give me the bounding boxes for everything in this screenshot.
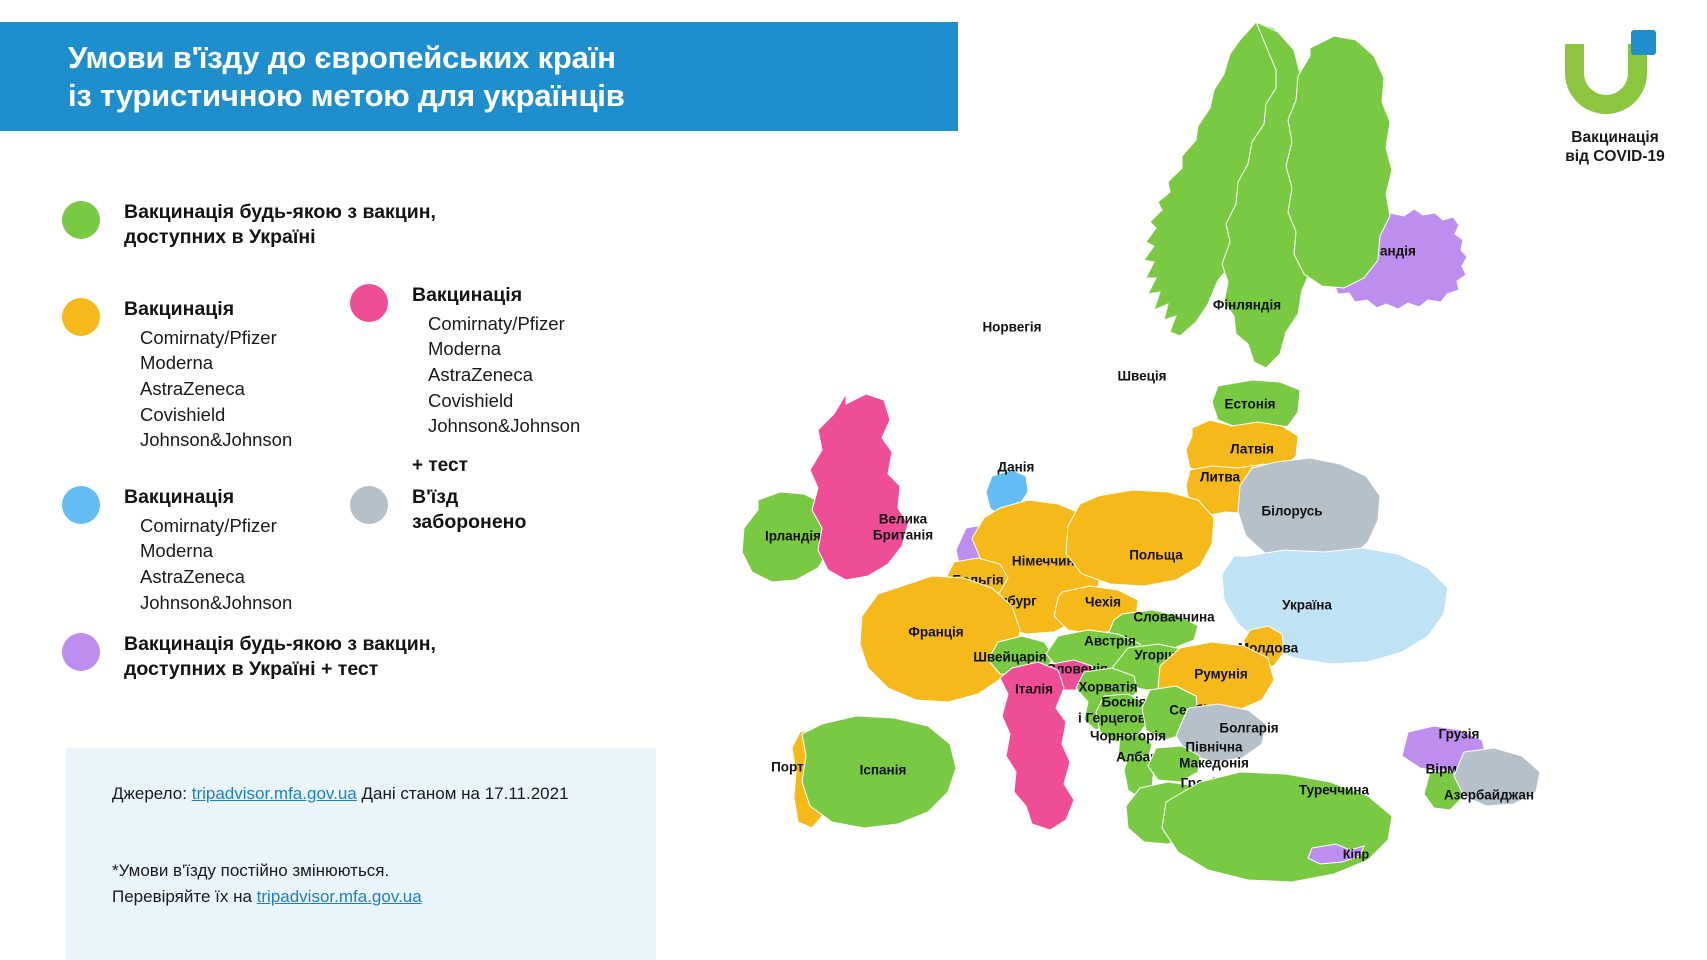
legend-item-pink: Вакцинація Comirnaty/Pfizer Moderna Astr…	[350, 283, 580, 477]
map-label-estonia: Естонія	[1225, 397, 1276, 412]
note-line-1: *Умови в'їзду постійно змінюються.	[112, 858, 422, 884]
source-line: Джерело: tripadvisor.mfa.gov.ua Дані ста…	[112, 784, 569, 804]
legend-swatch-grey	[350, 486, 388, 524]
vaccine-item: Moderna	[140, 350, 292, 376]
map-label-croatia: Хорватія	[1078, 680, 1137, 695]
legend-title-pink: Вакцинація	[412, 283, 580, 308]
legend-plus-test-pink: + тест	[412, 455, 580, 477]
map-label-czechia: Чехія	[1085, 595, 1121, 610]
note-link[interactable]: tripadvisor.mfa.gov.ua	[257, 887, 422, 906]
country-poland[interactable]	[1066, 490, 1214, 586]
map-label-bulgaria: Болгарія	[1219, 721, 1278, 736]
map-label-cyprus: Кіпр	[1343, 847, 1370, 861]
legend-title-blue: Вакцинація	[124, 485, 292, 510]
source-link[interactable]: tripadvisor.mfa.gov.ua	[192, 784, 357, 803]
source-label: Джерело:	[112, 784, 187, 803]
vaccine-item: AstraZeneca	[140, 564, 292, 590]
map-label-montenegro: Чорногорія	[1090, 729, 1166, 744]
legend-item-green: Вакцинація будь-якою з вакцин, доступних…	[62, 200, 436, 249]
source-box: Джерело: tripadvisor.mfa.gov.ua Дані ста…	[66, 748, 656, 960]
map-label-turkey: Туреччина	[1299, 783, 1370, 798]
legend-title-orange: Вакцинація	[124, 297, 292, 322]
map-label-uk-line2: Британія	[873, 528, 933, 543]
map-svg: Ісландія Норвегія Швеція Фінляндія Естон…	[700, 0, 1707, 960]
map-label-uk-line1: Велика	[879, 512, 928, 527]
map-label-norway: Норвегія	[982, 320, 1041, 335]
vaccine-item: Johnson&Johnson	[140, 590, 292, 616]
map-label-georgia: Грузія	[1439, 727, 1480, 742]
vaccine-item: Johnson&Johnson	[428, 413, 580, 439]
legend-title-purple: Вакцинація будь-якою з вакцин, доступних…	[124, 632, 436, 681]
vaccine-item: Comirnaty/Pfizer	[140, 325, 292, 351]
map-label-lithuania: Литва	[1200, 470, 1241, 485]
vaccine-item: Moderna	[428, 336, 580, 362]
legend-swatch-orange	[62, 298, 100, 336]
legend-title-green: Вакцинація будь-якою з вакцин, доступних…	[124, 200, 436, 249]
vaccine-item: AstraZeneca	[140, 376, 292, 402]
legend-swatch-blue	[62, 486, 100, 524]
note-line-2: Перевіряйте їх на tripadvisor.mfa.gov.ua	[112, 884, 422, 910]
legend-item-purple: Вакцинація будь-якою з вакцин, доступних…	[62, 632, 436, 681]
note-line: *Умови в'їзду постійно змінюються. Перев…	[112, 858, 422, 909]
vaccine-item: Comirnaty/Pfizer	[140, 513, 292, 539]
country-united-kingdom[interactable]	[810, 394, 908, 580]
map-label-italy: Італія	[1015, 682, 1053, 697]
map-label-latvia: Латвія	[1230, 442, 1274, 457]
vaccine-item: Covishield	[428, 388, 580, 414]
legend-item-orange: Вакцинація Comirnaty/Pfizer Moderna Astr…	[62, 297, 292, 469]
vaccine-item: Covishield	[140, 402, 292, 428]
legend-title-grey: В'їзд заборонено	[412, 485, 526, 534]
legend-swatch-green	[62, 201, 100, 239]
map-label-poland: Польща	[1129, 548, 1183, 563]
vaccine-item: AstraZeneca	[428, 362, 580, 388]
page-title: Умови в'їзду до європейських країн із ту…	[0, 39, 625, 115]
map-label-macedonia-line2: Македонія	[1179, 756, 1249, 771]
map-label-slovakia: Словаччина	[1133, 610, 1215, 625]
country-finland[interactable]	[1286, 36, 1392, 288]
vaccine-list-blue: Comirnaty/Pfizer Moderna AstraZeneca Joh…	[140, 513, 292, 616]
map-label-romania: Румунія	[1194, 667, 1247, 682]
map-label-spain: Іспанія	[860, 763, 907, 778]
vaccine-item: Johnson&Johnson	[140, 427, 292, 453]
legend-swatch-purple	[62, 633, 100, 671]
map-label-belarus: Білорусь	[1261, 504, 1322, 519]
legend-item-blue: Вакцинація Comirnaty/Pfizer Moderna Astr…	[62, 485, 292, 631]
europe-map: Ісландія Норвегія Швеція Фінляндія Естон…	[700, 0, 1707, 960]
source-date: Дані станом на 17.11.2021	[362, 784, 569, 803]
map-label-ukraine: Україна	[1282, 598, 1332, 613]
map-label-sweden: Швеція	[1117, 369, 1166, 384]
legend-item-grey: В'їзд заборонено	[350, 485, 526, 534]
map-label-macedonia-line1: Північна	[1185, 740, 1243, 755]
map-label-france: Франція	[908, 625, 963, 640]
vaccine-item: Moderna	[140, 538, 292, 564]
map-label-azerbaijan: Азербайджан	[1444, 788, 1534, 803]
map-label-denmark: Данія	[998, 460, 1035, 475]
vaccine-list-pink: Comirnaty/Pfizer Moderna AstraZeneca Cov…	[428, 311, 580, 440]
map-label-ireland: Ірландія	[765, 529, 821, 544]
map-label-austria: Австрія	[1084, 634, 1136, 649]
vaccine-list-orange: Comirnaty/Pfizer Moderna AstraZeneca Cov…	[140, 325, 292, 454]
vaccine-item: Comirnaty/Pfizer	[428, 311, 580, 337]
map-label-finland: Фінляндія	[1213, 298, 1281, 313]
map-label-bosnia-line1: Боснія	[1101, 695, 1146, 710]
legend: Вакцинація будь-якою з вакцин, доступних…	[0, 185, 700, 705]
legend-swatch-pink	[350, 284, 388, 322]
note-prefix: Перевіряйте їх на	[112, 887, 257, 906]
